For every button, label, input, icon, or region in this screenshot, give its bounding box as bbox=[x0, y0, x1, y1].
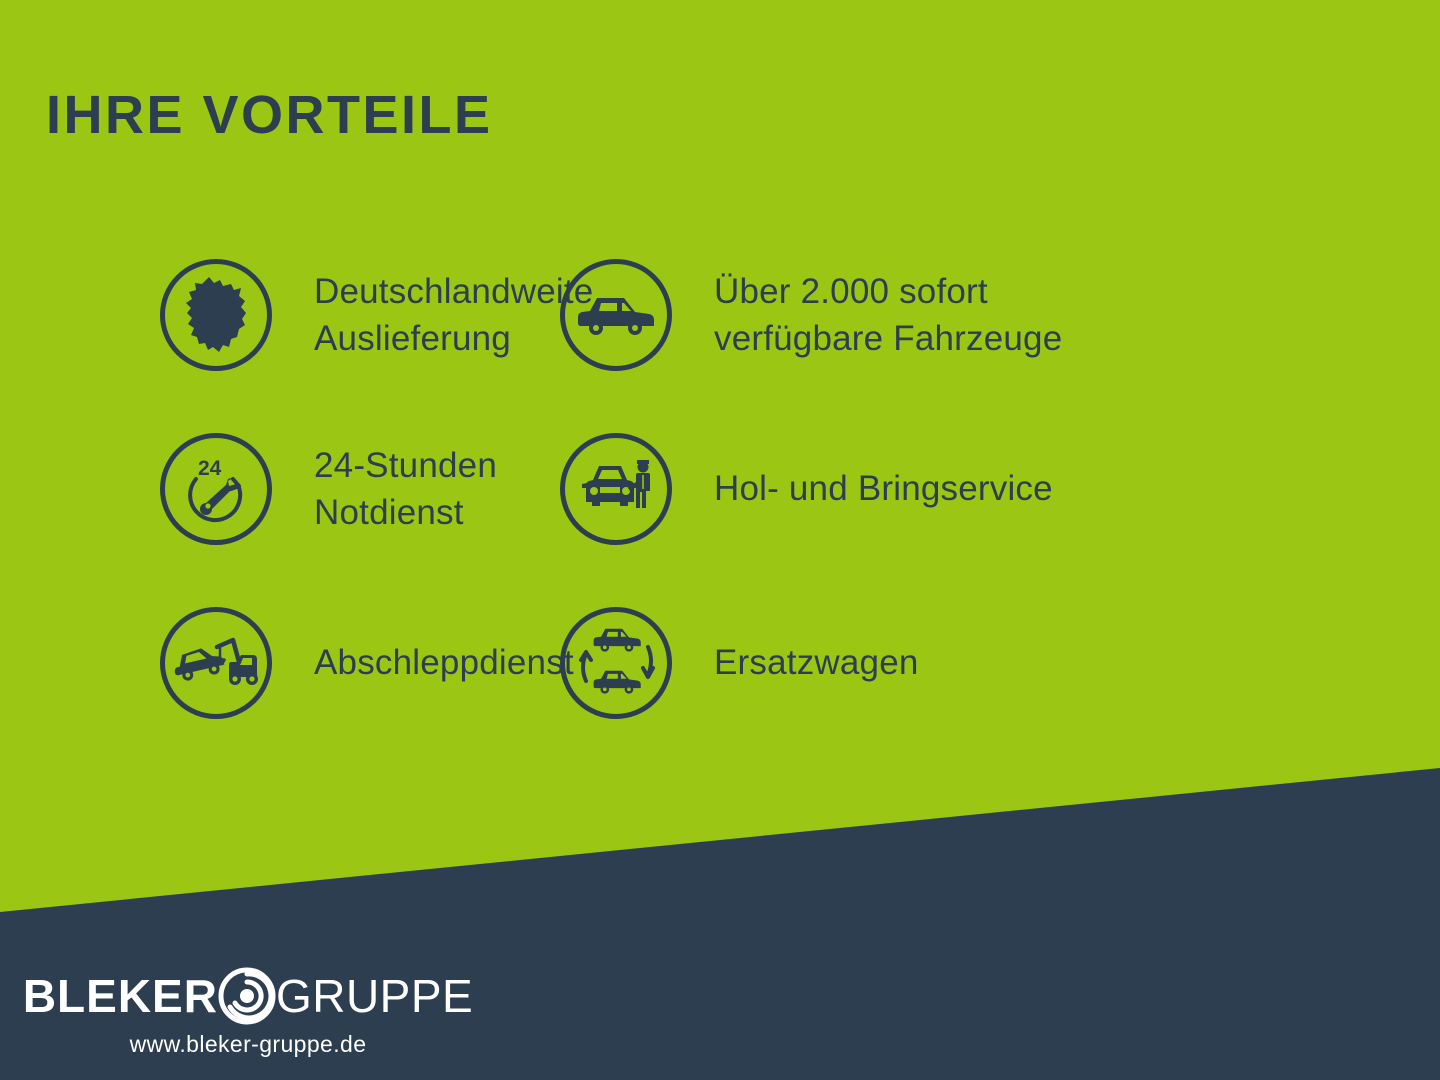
benefit-label: Über 2.000 sofort verfügbare Fahrzeuge bbox=[714, 268, 1062, 363]
two-cars-swap-icon bbox=[560, 607, 672, 719]
benefits-grid: Deutschlandweite Auslieferung Über 2.000… bbox=[0, 228, 1440, 750]
24-hour-wrench-icon: 24 bbox=[160, 433, 272, 545]
svg-text:24: 24 bbox=[198, 457, 222, 480]
benefit-row: Deutschlandweite Auslieferung Über 2.000… bbox=[0, 228, 1440, 402]
benefit-item-hol-und-bringservice[interactable]: Hol- und Bringservice bbox=[560, 402, 1320, 576]
benefit-item-abschleppdienst[interactable]: Abschleppdienst bbox=[0, 576, 560, 750]
benefit-item-24-stunden-notdienst[interactable]: 24 24-Stunden Notdienst bbox=[0, 402, 560, 576]
car-side-icon bbox=[560, 259, 672, 371]
spiral-circles-icon bbox=[216, 965, 278, 1027]
car-with-driver-icon bbox=[560, 433, 672, 545]
germany-map-icon bbox=[160, 259, 272, 371]
logo-wordmark: BLEKER GRUPPE bbox=[38, 965, 458, 1027]
benefit-label: Hol- und Bringservice bbox=[714, 465, 1053, 512]
logo-name-light: GRUPPE bbox=[276, 973, 473, 1019]
benefit-item-deutschlandweite-auslieferung[interactable]: Deutschlandweite Auslieferung bbox=[0, 228, 560, 402]
logo-website-url[interactable]: www.bleker-gruppe.de bbox=[38, 1031, 458, 1058]
benefit-label: Ersatzwagen bbox=[714, 639, 919, 686]
slide-canvas: IHRE VORTEILE Deutschlandweite Ausliefer… bbox=[0, 0, 1440, 1080]
benefit-item-ersatzwagen[interactable]: Ersatzwagen bbox=[560, 576, 1320, 750]
tow-truck-icon bbox=[160, 607, 272, 719]
page-title: IHRE VORTEILE bbox=[46, 88, 493, 142]
benefit-label: Deutschlandweite Auslieferung bbox=[314, 268, 593, 363]
benefit-label: Abschleppdienst bbox=[314, 639, 574, 686]
benefit-row: Abschleppdienst bbox=[0, 576, 1440, 750]
logo-name-bold: BLEKER bbox=[23, 973, 218, 1019]
benefit-row: 24 24-Stunden Notdienst bbox=[0, 402, 1440, 576]
company-logo[interactable]: BLEKER GRUPPE www.bleker-gruppe.de bbox=[38, 965, 458, 1058]
benefit-item-verfuegbare-fahrzeuge[interactable]: Über 2.000 sofort verfügbare Fahrzeuge bbox=[560, 228, 1320, 402]
benefit-label: 24-Stunden Notdienst bbox=[314, 442, 497, 537]
